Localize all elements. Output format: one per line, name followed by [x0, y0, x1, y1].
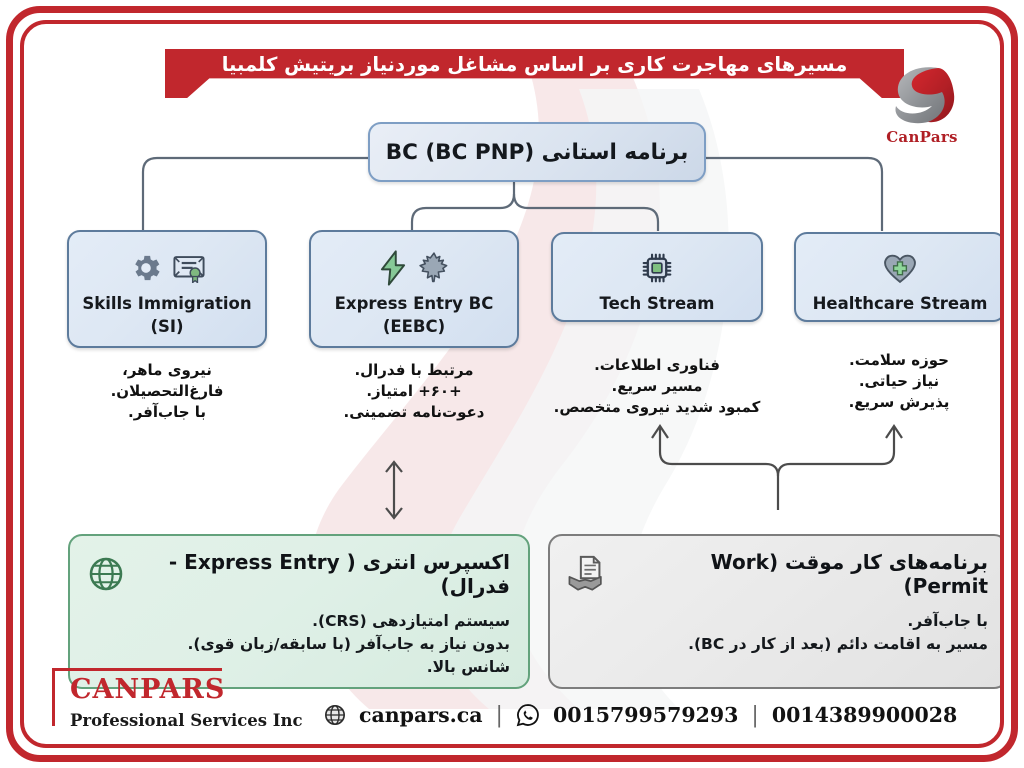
notes-skills-immigration: نیروی ماهر، فارغ‌التحصیلان. با جاب‌آفر. — [72, 360, 262, 423]
express-entry-bc-icons — [378, 245, 451, 291]
healthcare-stream-label: Healthcare Stream — [813, 294, 988, 314]
footer-tagline: Professional Services Inc — [70, 711, 303, 730]
node-bc-pnp-root[interactable]: برنامه استانی BC (BC PNP) — [368, 122, 706, 182]
page-title: مسیرهای مهاجرت کاری بر اساس مشاغل موردنی… — [222, 49, 848, 80]
tech-stream-icons — [640, 245, 674, 291]
footer-company-name: CANPARS — [70, 674, 225, 705]
microchip-icon — [640, 251, 674, 285]
whatsapp-icon — [516, 703, 540, 727]
body-line: سیستم امتیازدهی (CRS). — [94, 610, 510, 633]
work-permit-branch-arrow — [652, 426, 902, 510]
notes-express-entry-bc: مرتبط با فدرال. +۶۰+ امتیاز. دعوت‌نامه ت… — [314, 360, 514, 423]
tech-stream-label: Tech Stream — [600, 294, 715, 314]
canpars-logo: CanPars — [874, 62, 970, 152]
express-entry-federal-header: اکسپرس انتری ( Express Entry - فدرال) — [88, 550, 510, 598]
footer-phone-primary[interactable]: 0015799579293 — [553, 703, 738, 727]
certificate-icon — [172, 253, 206, 283]
note-line: مرتبط با فدرال. — [314, 360, 514, 381]
note-line: فناوری اطلاعات. — [551, 355, 763, 376]
body-line: بدون نیاز به جاب‌آفر (با سابقه/زبان قوی)… — [94, 633, 510, 656]
skills-immigration-icons — [129, 245, 206, 291]
note-line: نیاز حیاتی. — [814, 371, 984, 392]
work-permit-header: برنامه‌های کار موقت (Work Permit) — [568, 550, 988, 598]
footer-bar: CANPARS Professional Services Inc canpar… — [24, 664, 1000, 734]
canpars-logo-wordmark: CanPars — [874, 128, 970, 146]
title-ribbon: مسیرهای مهاجرت کاری بر اساس مشاغل موردنی… — [165, 49, 904, 98]
notes-tech-stream: فناوری اطلاعات. مسیر سریع. کمبود شدید نی… — [551, 355, 763, 418]
footer-separator-2: | — [751, 703, 758, 728]
footer-separator-1: | — [496, 703, 503, 728]
healthcare-stream-icons — [882, 245, 918, 291]
body-line: با جاب‌آفر. — [574, 610, 988, 633]
gear-icon — [129, 251, 163, 285]
canpars-s-mark-icon — [886, 62, 958, 126]
globe-icon — [324, 704, 346, 726]
work-permit-title: برنامه‌های کار موقت (Work Permit) — [620, 550, 988, 598]
note-line: دعوت‌نامه تضمینی. — [314, 402, 514, 423]
lightning-bolt-icon — [378, 250, 408, 286]
express-entry-federal-title: اکسپرس انتری ( Express Entry - فدرال) — [136, 550, 510, 598]
node-tech-stream[interactable]: Tech Stream — [551, 232, 763, 322]
note-line: کمبود شدید نیروی متخصص. — [551, 397, 763, 418]
note-line: با جاب‌آفر. — [72, 402, 262, 423]
note-line: مسیر سریع. — [551, 376, 763, 397]
footer-logo-block: CANPARS Professional Services Inc — [52, 668, 322, 730]
express-entry-bc-sublabel: (EEBC) — [383, 317, 445, 337]
work-permit-body: با جاب‌آفر. مسیر به اقامت دائم (بعد از ک… — [568, 610, 988, 656]
maple-leaf-icon — [417, 251, 451, 285]
footer-website[interactable]: canpars.ca — [359, 703, 483, 727]
body-line: مسیر به اقامت دائم (بعد از کار در BC). — [574, 633, 988, 656]
bidirectional-arrow — [386, 462, 402, 518]
note-line: نیروی ماهر، — [72, 360, 262, 381]
node-healthcare-stream[interactable]: Healthcare Stream — [794, 232, 1000, 322]
footer-contact-strip: canpars.ca | 0015799579293 | 00143899000… — [324, 698, 992, 732]
node-express-entry-bc[interactable]: Express Entry BC (EEBC) — [309, 230, 519, 348]
node-bc-pnp-label: برنامه استانی BC (BC PNP) — [386, 140, 689, 165]
footer-phone-secondary[interactable]: 0014389900028 — [772, 703, 957, 727]
notes-healthcare-stream: حوزه سلامت. نیاز حیاتی. پذیرش سریع. — [814, 350, 984, 413]
node-skills-immigration[interactable]: Skills Immigration (SI) — [67, 230, 267, 348]
globe-icon — [88, 556, 124, 592]
note-line: حوزه سلامت. — [814, 350, 984, 371]
infographic-canvas: مسیرهای مهاجرت کاری بر اساس مشاغل موردنی… — [24, 24, 1000, 744]
note-line: +۶۰+ امتیاز. — [314, 381, 514, 402]
document-handshake-icon — [568, 555, 608, 593]
note-line: پذیرش سریع. — [814, 392, 984, 413]
skills-immigration-label: Skills Immigration — [82, 294, 251, 314]
skills-immigration-sublabel: (SI) — [150, 317, 183, 337]
note-line: فارغ‌التحصیلان. — [72, 381, 262, 402]
heart-plus-icon — [882, 251, 918, 285]
express-entry-bc-label: Express Entry BC — [335, 294, 494, 314]
